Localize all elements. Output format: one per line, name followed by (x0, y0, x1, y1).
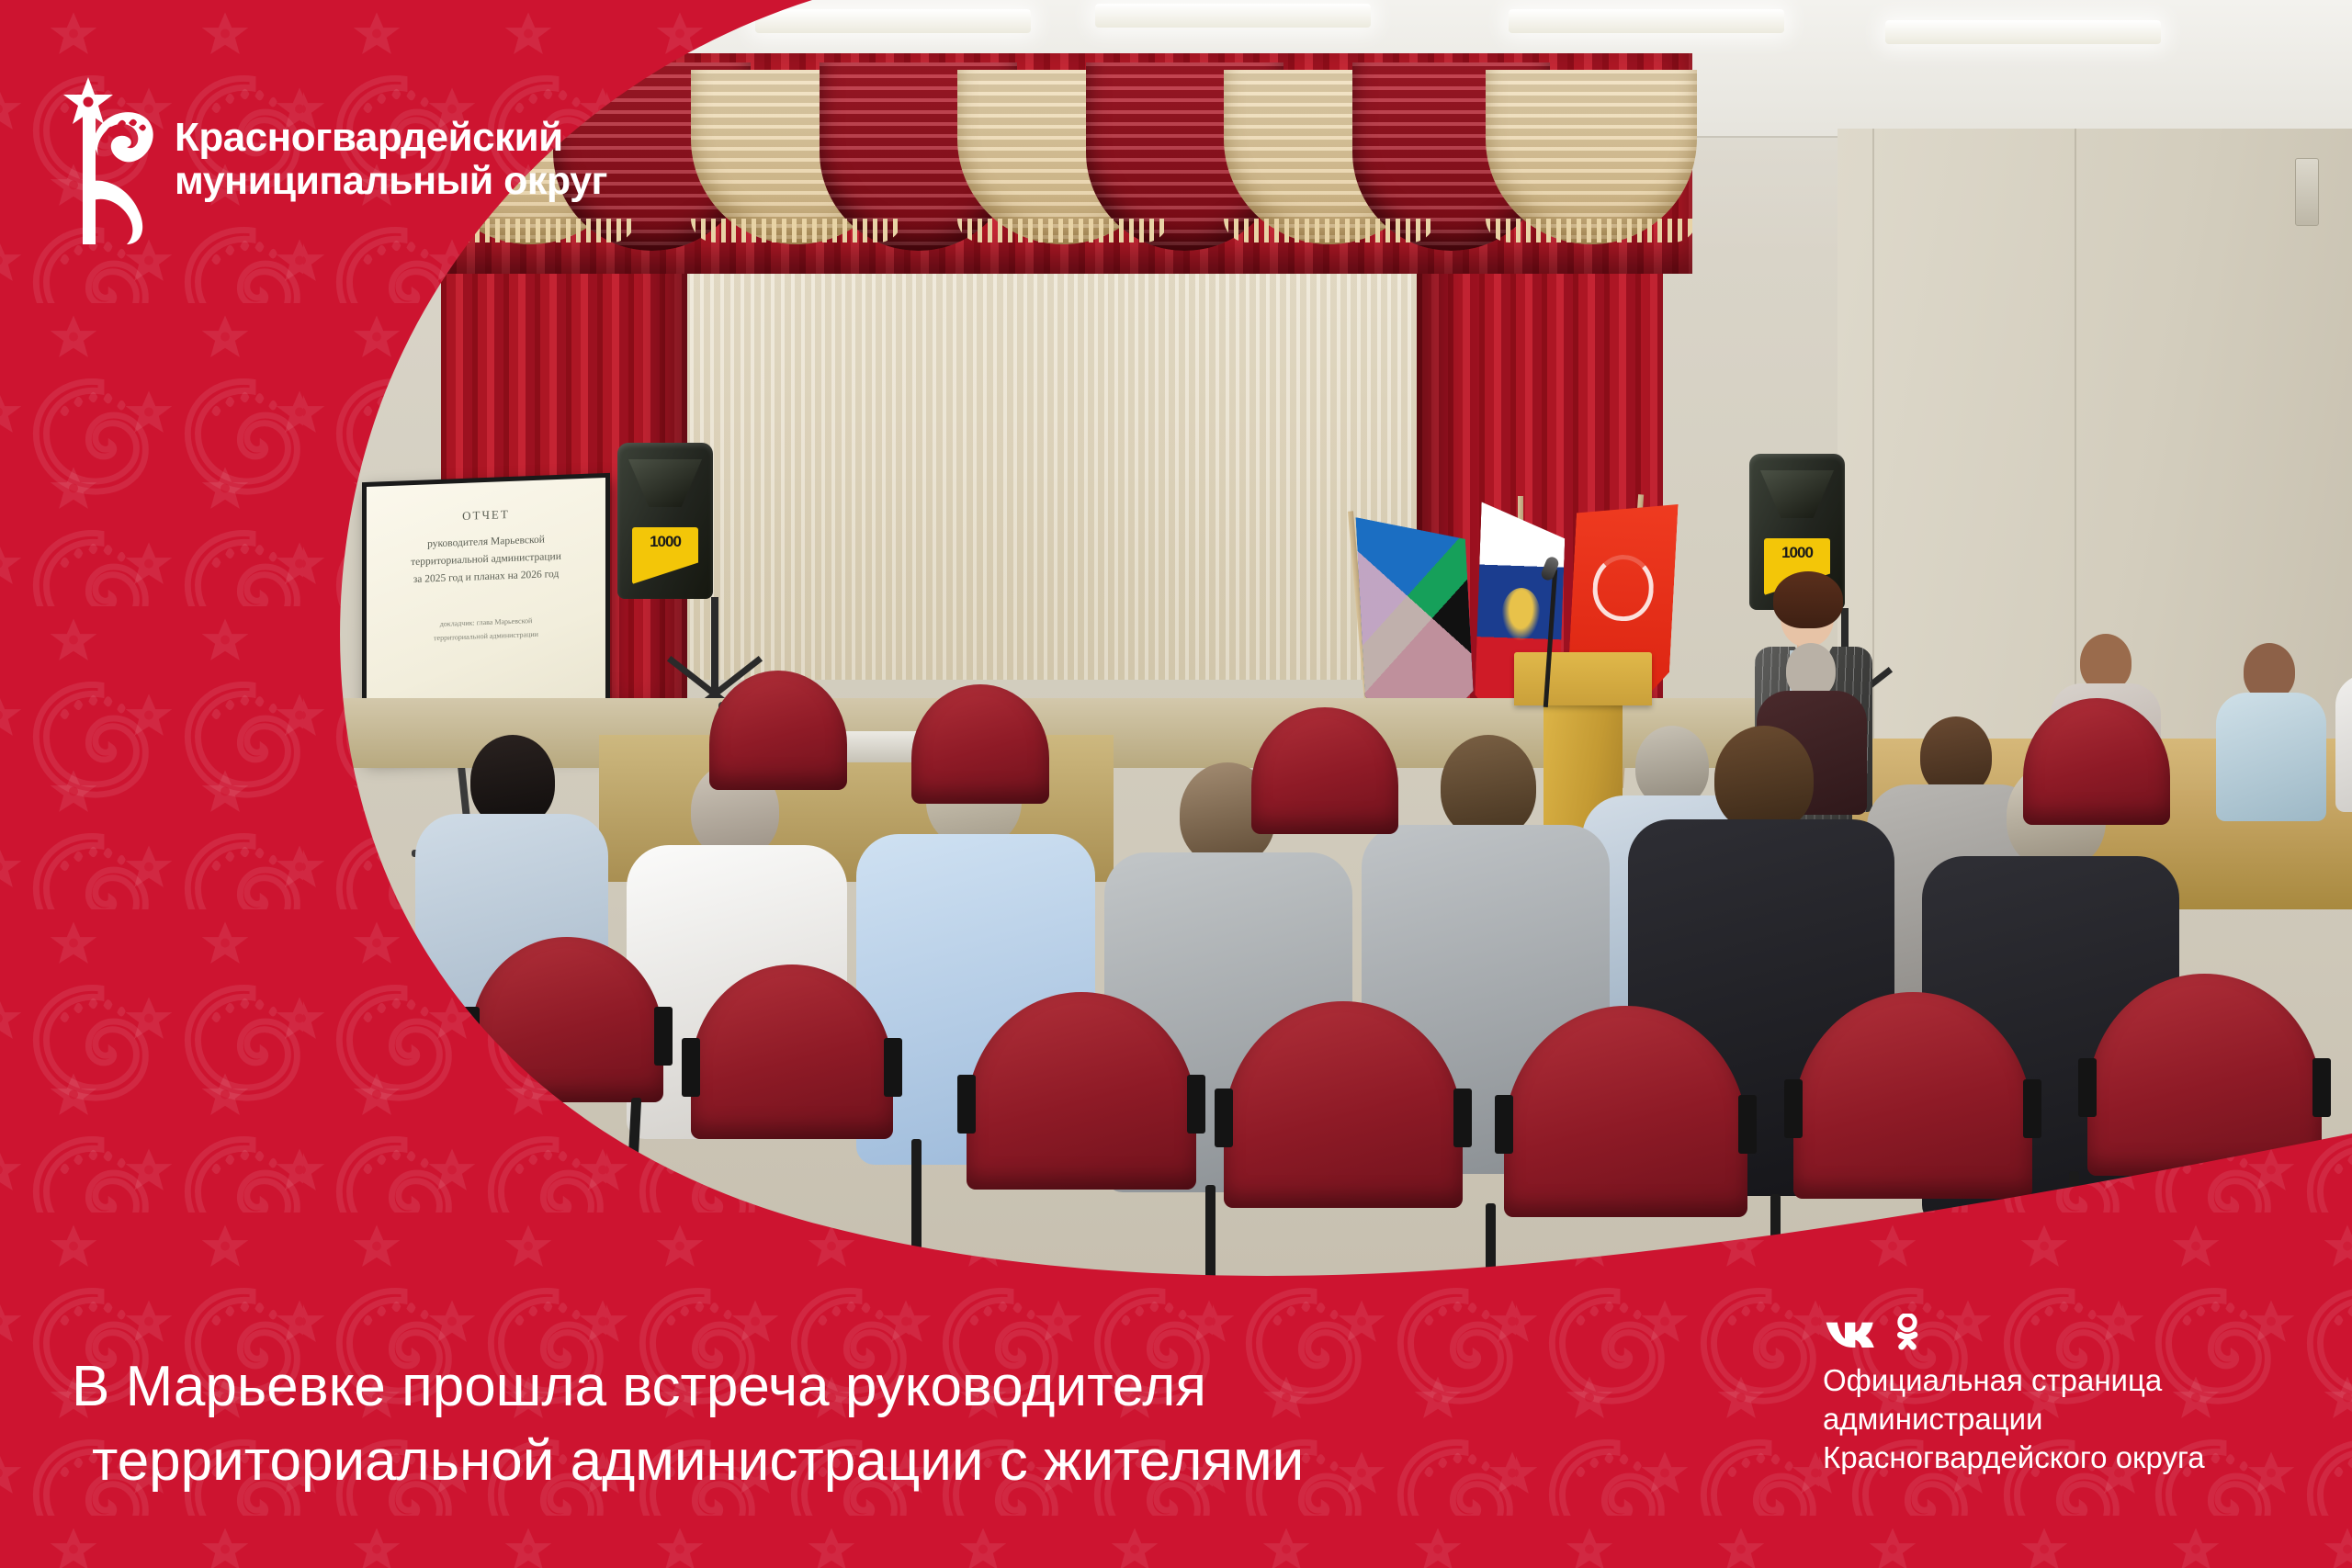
valance-fringe (957, 219, 1169, 243)
speaker-badge: 1000 (632, 527, 698, 551)
caption-line-1: В Марьевке прошла встреча руководителя (72, 1350, 1799, 1425)
theatre-chair (691, 964, 893, 1139)
theatre-chair (1793, 992, 2032, 1199)
chair-leg (1770, 1194, 1781, 1277)
ceiling-light (434, 17, 691, 40)
ceiling-light (1095, 4, 1371, 28)
wall-speaker (2295, 158, 2319, 226)
footer-line-3: Красногвардейского округа (1823, 1438, 2301, 1477)
odnoklassniki-icon[interactable] (1893, 1314, 1922, 1352)
pa-speaker-left: 1000 (617, 443, 713, 599)
post-caption: В Марьевке прошла встреча руководителя т… (72, 1350, 1799, 1498)
theatre-chair (911, 684, 1049, 804)
logo-text: Красногвардейский муниципальный округ (175, 118, 607, 201)
social-footer: Официальная страница администрации Красн… (1823, 1312, 2301, 1478)
krasnogvardeysky-emblem-icon (51, 73, 154, 244)
audience-person (2216, 643, 2326, 818)
podium (1514, 652, 1652, 705)
theatre-chair (967, 992, 1196, 1190)
footer-line-2: администрации (1823, 1400, 2301, 1438)
logo-line-1: Красногвардейский (175, 118, 607, 158)
footer-text: Официальная страница администрации Красн… (1823, 1361, 2301, 1478)
chair-leg (1486, 1203, 1496, 1277)
valance-fringe (1486, 219, 1697, 243)
theatre-chair (1251, 707, 1398, 834)
site-logo[interactable]: Красногвардейский муниципальный округ (51, 72, 750, 246)
chair-leg (2069, 1171, 2079, 1277)
logo-line-2: муниципальный округ (175, 162, 607, 201)
valance-fringe (1224, 219, 1435, 243)
ceiling-light (755, 9, 1031, 33)
chair-leg (1205, 1185, 1216, 1277)
social-icons (1823, 1312, 2301, 1354)
caption-line-2: территориальной администрации с жителями (72, 1425, 1799, 1499)
theatre-chair (470, 937, 663, 1102)
chair-leg (911, 1139, 922, 1277)
theatre-chair (709, 671, 847, 790)
ceiling-light (1509, 9, 1784, 33)
slide-title: ОТЧЕТ (379, 504, 593, 527)
theatre-chair (2087, 974, 2322, 1176)
audience-person (2335, 623, 2352, 807)
theatre-chair (1504, 1006, 1747, 1217)
footer-line-1: Официальная страница (1823, 1361, 2301, 1400)
theatre-chair (2023, 698, 2170, 825)
ceiling-light (1885, 20, 2161, 44)
vk-icon[interactable] (1823, 1317, 1880, 1348)
theatre-chair (1224, 1001, 1463, 1208)
speaker-badge: 1000 (1764, 538, 1830, 562)
